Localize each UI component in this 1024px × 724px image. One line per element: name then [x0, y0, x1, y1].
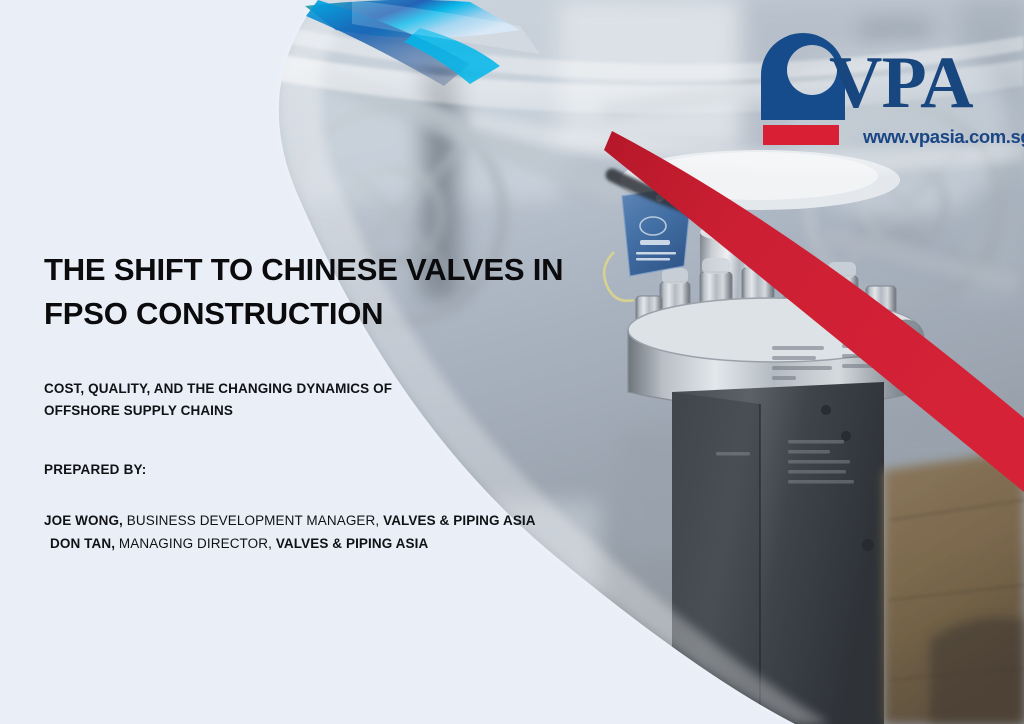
cover-slide: THE SHIFT TO CHINESE VALVES IN FPSO CONS…	[0, 0, 1024, 724]
author-company: VALVES & PIPING ASIA	[383, 513, 536, 528]
author-list: JOE WONG, BUSINESS DEVELOPMENT MANAGER, …	[44, 509, 604, 555]
author-company: VALVES & PIPING ASIA	[276, 536, 429, 551]
page-subtitle: COST, QUALITY, AND THE CHANGING DYNAMICS…	[44, 378, 604, 422]
vpa-logo[interactable]: VPA www.vpasia.com.sg	[757, 28, 1019, 146]
vpa-website: www.vpasia.com.sg	[863, 126, 1024, 148]
vpa-wordmark: VPA	[829, 52, 973, 116]
page-title: THE SHIFT TO CHINESE VALVES IN FPSO CONS…	[44, 248, 604, 336]
author-line: JOE WONG, BUSINESS DEVELOPMENT MANAGER, …	[44, 509, 604, 532]
author-role: MANAGING DIRECTOR,	[115, 536, 276, 551]
author-name: JOE WONG,	[44, 513, 123, 528]
author-line: DON TAN, MANAGING DIRECTOR, VALVES & PIP…	[44, 532, 604, 555]
author-role: BUSINESS DEVELOPMENT MANAGER,	[123, 513, 383, 528]
prepared-by-label: PREPARED BY:	[44, 462, 604, 477]
author-name: DON TAN,	[50, 536, 115, 551]
cover-text-block: THE SHIFT TO CHINESE VALVES IN FPSO CONS…	[44, 248, 604, 555]
